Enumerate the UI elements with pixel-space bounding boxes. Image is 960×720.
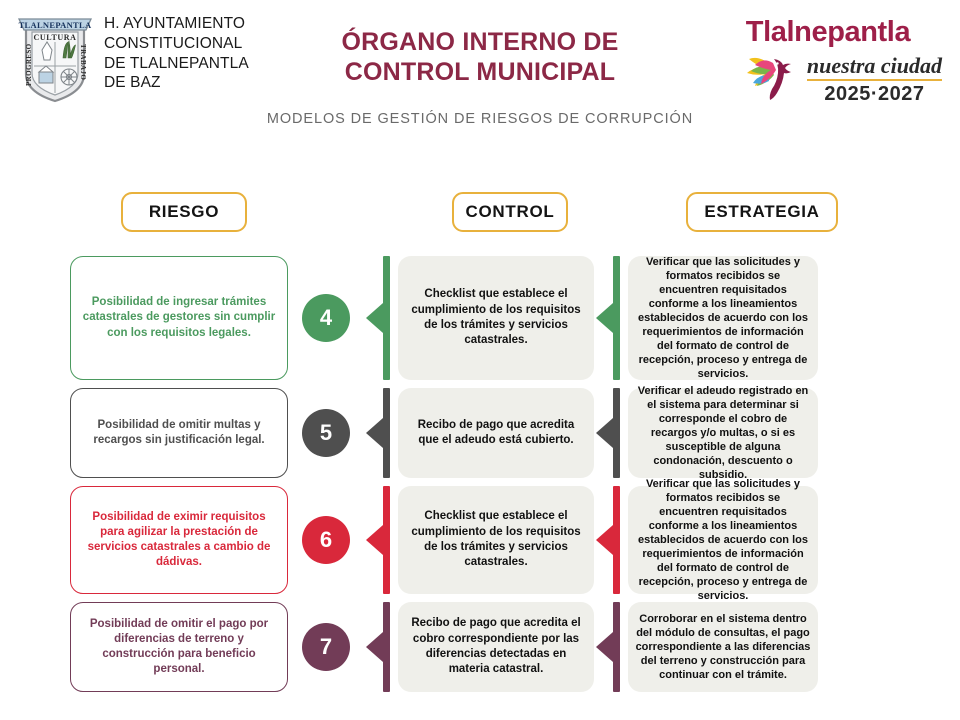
row-right-spacer [818, 602, 960, 692]
infographic-page: TLALNEPANTLA CULTURA PROGRESO TRABAJO H.… [0, 0, 960, 720]
row-number-badge: 5 [302, 409, 350, 457]
column-headers: RIESGO CONTROL ESTRATEGIA [0, 192, 960, 236]
city-logo-years: 2025·2027 [807, 84, 942, 104]
row-number-cell: 7 [288, 602, 364, 692]
connector-bar [613, 256, 620, 380]
row-number-badge: 6 [302, 516, 350, 564]
strategy-cell: Corroborar en el sistema dentro del módu… [628, 602, 818, 692]
chevron-left-icon [366, 303, 383, 333]
risk-matrix: Posibilidad de ingresar trámites catastr… [0, 256, 960, 692]
control-box: Recibo de pago que acredita que el adeud… [398, 388, 594, 478]
connector-bar [613, 486, 620, 594]
control-cell: Recibo de pago que acredita que el adeud… [398, 388, 594, 478]
connector-bar [383, 602, 390, 692]
institution-line-1: H. AYUNTAMIENTO [104, 14, 249, 34]
chevron-left-icon [596, 418, 613, 448]
risk-box: Posibilidad de eximir requisitos para ag… [70, 486, 288, 594]
institution-line-2: CONSTITUCIONAL [104, 34, 249, 54]
control-text: Recibo de pago que acredita que el adeud… [408, 418, 584, 449]
connector-arrow [594, 256, 628, 380]
control-cell: Recibo de pago que acredita el cobro cor… [398, 602, 594, 692]
connector-arrow [594, 388, 628, 478]
strategy-box: Verificar el adeudo registrado en el sis… [628, 388, 818, 478]
column-header-control: CONTROL [452, 192, 568, 232]
matrix-row: Posibilidad de omitir el pago por difere… [0, 602, 960, 692]
control-box: Recibo de pago que acredita el cobro cor… [398, 602, 594, 692]
column-header-estrategia: ESTRATEGIA [686, 192, 838, 232]
matrix-row: Posibilidad de omitir multas y recargos … [0, 388, 960, 478]
chevron-left-icon [596, 632, 613, 662]
control-text: Recibo de pago que acredita el cobro cor… [408, 616, 584, 678]
risk-cell: Posibilidad de ingresar trámites catastr… [70, 256, 288, 380]
strategy-text: Corroborar en el sistema dentro del módu… [635, 612, 811, 682]
column-header-riesgo: RIESGO [121, 192, 247, 232]
tlalnepantla-coat-of-arms-icon: TLALNEPANTLA CULTURA PROGRESO TRABAJO [16, 8, 94, 106]
row-number-cell: 5 [288, 388, 364, 478]
chevron-left-icon [366, 525, 383, 555]
risk-box: Posibilidad de omitir multas y recargos … [70, 388, 288, 478]
chevron-left-icon [366, 418, 383, 448]
city-logo: Tlalnepantla nuestra ciudad 2025·2027 [714, 18, 942, 106]
city-logo-wordmark: Tlalnepantla [714, 18, 942, 47]
institution-name: H. AYUNTAMIENTO CONSTITUCIONAL DE TLALNE… [104, 8, 249, 93]
page-subtitle: MODELOS DE GESTIÓN DE RIESGOS DE CORRUPC… [255, 111, 705, 127]
connector-bar [383, 256, 390, 380]
row-number-badge: 4 [302, 294, 350, 342]
strategy-cell: Verificar que las solicitudes y formatos… [628, 486, 818, 594]
row-number-cell: 4 [288, 256, 364, 380]
control-cell: Checklist que establece el cumplimiento … [398, 486, 594, 594]
row-number-badge: 7 [302, 623, 350, 671]
risk-text: Posibilidad de eximir requisitos para ag… [80, 510, 278, 571]
chevron-left-icon [596, 303, 613, 333]
connector-arrow [594, 602, 628, 692]
connector-bar [383, 486, 390, 594]
page-header: TLALNEPANTLA CULTURA PROGRESO TRABAJO H.… [0, 0, 960, 150]
control-box: Checklist que establece el cumplimiento … [398, 256, 594, 380]
control-box: Checklist que establece el cumplimiento … [398, 486, 594, 594]
svg-text:TLALNEPANTLA: TLALNEPANTLA [19, 20, 92, 30]
strategy-cell: Verificar que las solicitudes y formatos… [628, 256, 818, 380]
institution-identity: TLALNEPANTLA CULTURA PROGRESO TRABAJO H.… [16, 8, 249, 106]
strategy-box: Corroborar en el sistema dentro del módu… [628, 602, 818, 692]
institution-line-3: DE TLALNEPANTLA [104, 54, 249, 74]
control-text: Checklist que establece el cumplimiento … [408, 287, 584, 349]
chevron-left-icon [366, 632, 383, 662]
svg-text:TRABAJO: TRABAJO [79, 44, 87, 80]
page-title-line-1: ÓRGANO INTERNO DE [255, 28, 705, 58]
institution-line-4: DE BAZ [104, 73, 249, 93]
row-right-spacer [818, 256, 960, 380]
strategy-text: Verificar el adeudo registrado en el sis… [635, 384, 811, 483]
page-title-block: ÓRGANO INTERNO DE CONTROL MUNICIPAL MODE… [255, 28, 705, 127]
risk-cell: Posibilidad de eximir requisitos para ag… [70, 486, 288, 594]
svg-text:CULTURA: CULTURA [33, 33, 76, 42]
strategy-box: Verificar que las solicitudes y formatos… [628, 256, 818, 380]
connector-arrow [594, 486, 628, 594]
connector-arrow [364, 256, 398, 380]
row-right-spacer [818, 486, 960, 594]
page-title-line-2: CONTROL MUNICIPAL [255, 58, 705, 88]
city-logo-tagline: nuestra ciudad [807, 55, 942, 81]
control-text: Checklist que establece el cumplimiento … [408, 509, 584, 571]
connector-arrow [364, 486, 398, 594]
risk-text: Posibilidad de omitir el pago por difere… [80, 617, 278, 678]
risk-text: Posibilidad de ingresar trámites catastr… [80, 295, 278, 341]
connector-arrow [364, 602, 398, 692]
control-cell: Checklist que establece el cumplimiento … [398, 256, 594, 380]
chevron-left-icon [596, 525, 613, 555]
connector-arrow [364, 388, 398, 478]
connector-bar [613, 602, 620, 692]
connector-bar [383, 388, 390, 478]
strategy-cell: Verificar el adeudo registrado en el sis… [628, 388, 818, 478]
risk-cell: Posibilidad de omitir multas y recargos … [70, 388, 288, 478]
row-number-cell: 6 [288, 486, 364, 594]
row-right-spacer [818, 388, 960, 478]
strategy-text: Verificar que las solicitudes y formatos… [635, 255, 811, 382]
strategy-box: Verificar que las solicitudes y formatos… [628, 486, 818, 594]
svg-text:PROGRESO: PROGRESO [25, 43, 33, 86]
matrix-row: Posibilidad de ingresar trámites catastr… [0, 256, 960, 380]
connector-bar [613, 388, 620, 478]
risk-box: Posibilidad de ingresar trámites catastr… [70, 256, 288, 380]
risk-text: Posibilidad de omitir multas y recargos … [80, 418, 278, 448]
strategy-text: Verificar que las solicitudes y formatos… [635, 477, 811, 604]
risk-box: Posibilidad de omitir el pago por difere… [70, 602, 288, 692]
page-title: ÓRGANO INTERNO DE CONTROL MUNICIPAL [255, 28, 705, 87]
risk-cell: Posibilidad de omitir el pago por difere… [70, 602, 288, 692]
matrix-row: Posibilidad de eximir requisitos para ag… [0, 486, 960, 594]
hummingbird-logo-icon [741, 53, 803, 106]
